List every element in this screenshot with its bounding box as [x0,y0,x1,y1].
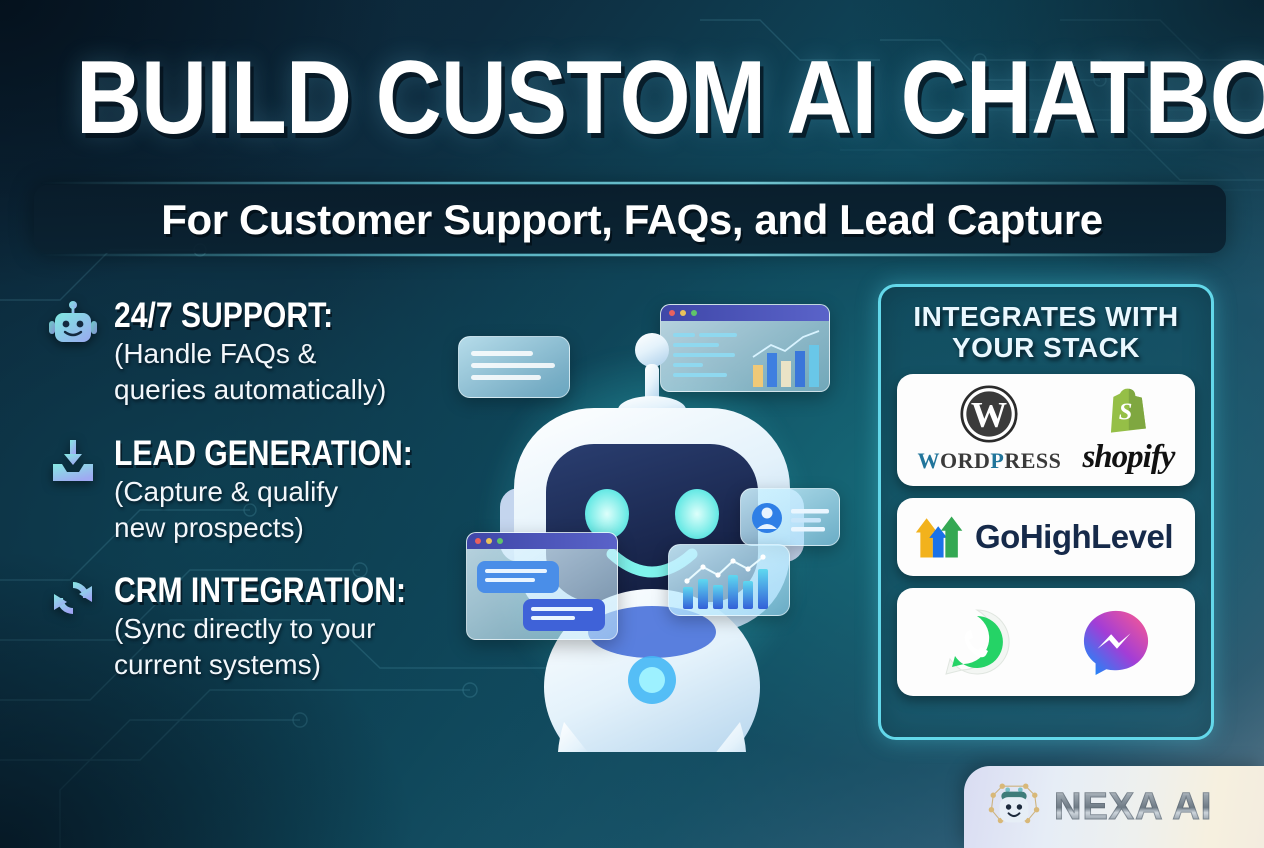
integration-card-messaging[interactable] [897,588,1195,696]
svg-text:W: W [971,395,1007,435]
feature-desc-line1: (Sync directly to your [114,612,474,646]
integrations-title-line2: YOUR STACK [897,332,1195,363]
gohighlevel-wordmark: GoHighLevel [975,518,1173,556]
shopify-logo[interactable]: S shopify [1082,384,1174,476]
headline: BUILD CUSTOM AI CHATBOTS [76,46,1188,150]
contact-card-bubble [740,488,840,546]
promo-canvas: BUILD CUSTOM AI CHATBOTS For Customer Su… [0,0,1264,848]
feature-item-crm-integration: CRM INTEGRATION: (Sync directly to your … [44,571,474,683]
window-titlebar [467,533,617,549]
feature-item-support: 24/7 SUPPORT: (Handle FAQs & queries aut… [44,296,474,408]
integrations-panel: INTEGRATES WITH YOUR STACK W WORDPRESS S [878,284,1214,740]
gohighlevel-icon [915,514,965,560]
integrations-title: INTEGRATES WITH YOUR STACK [897,301,1195,364]
window-dot-green [497,538,503,544]
integrations-title-line1: INTEGRATES WITH [897,301,1195,332]
shopify-icon: S [1102,384,1154,434]
integration-card-gohighlevel[interactable]: GoHighLevel [897,498,1195,576]
inbox-download-icon [48,438,98,484]
shopify-wordmark: shopify [1082,439,1174,476]
nexa-robot-network-icon [986,779,1042,835]
chart-glass-card [668,544,790,616]
feature-desc-line1: (Capture & qualify [114,475,474,509]
messenger-icon[interactable] [1081,607,1151,677]
feature-title: 24/7 SUPPORT: [114,296,424,335]
feature-desc-line2: queries automatically) [114,373,474,407]
bar-line-chart [669,545,791,617]
wordpress-icon: W [960,385,1018,443]
feature-desc-line2: new prospects) [114,511,474,545]
brand-logo-bar: NEXA AI [964,766,1264,848]
whatsapp-icon[interactable] [941,606,1013,678]
sync-arrows-icon [48,575,98,621]
robot-head-icon [48,300,98,346]
feature-list: 24/7 SUPPORT: (Handle FAQs & queries aut… [44,296,474,709]
window-dot-yellow [486,538,492,544]
window-chat-content [467,549,618,640]
wordpress-logo[interactable]: W WORDPRESS [918,385,1062,474]
ai-chatbot-robot-mascot [452,292,852,752]
feature-desc-line1: (Handle FAQs & [114,337,474,371]
chat-window-bottom [466,532,618,640]
brand-name: NEXA AI [1054,786,1212,829]
feature-title: LEAD GENERATION: [114,434,424,473]
wordpress-wordmark: WORDPRESS [918,448,1062,474]
feature-title: CRM INTEGRATION: [114,571,424,610]
contact-card-content [741,489,841,547]
window-dot-red [475,538,481,544]
integration-card-wordpress-shopify[interactable]: W WORDPRESS S shopify [897,374,1195,486]
feature-desc-line2: current systems) [114,648,474,682]
feature-item-lead-generation: LEAD GENERATION: (Capture & qualify new … [44,434,474,546]
svg-text:S: S [1119,398,1133,425]
subtitle: For Customer Support, FAQs, and Lead Cap… [0,196,1264,244]
